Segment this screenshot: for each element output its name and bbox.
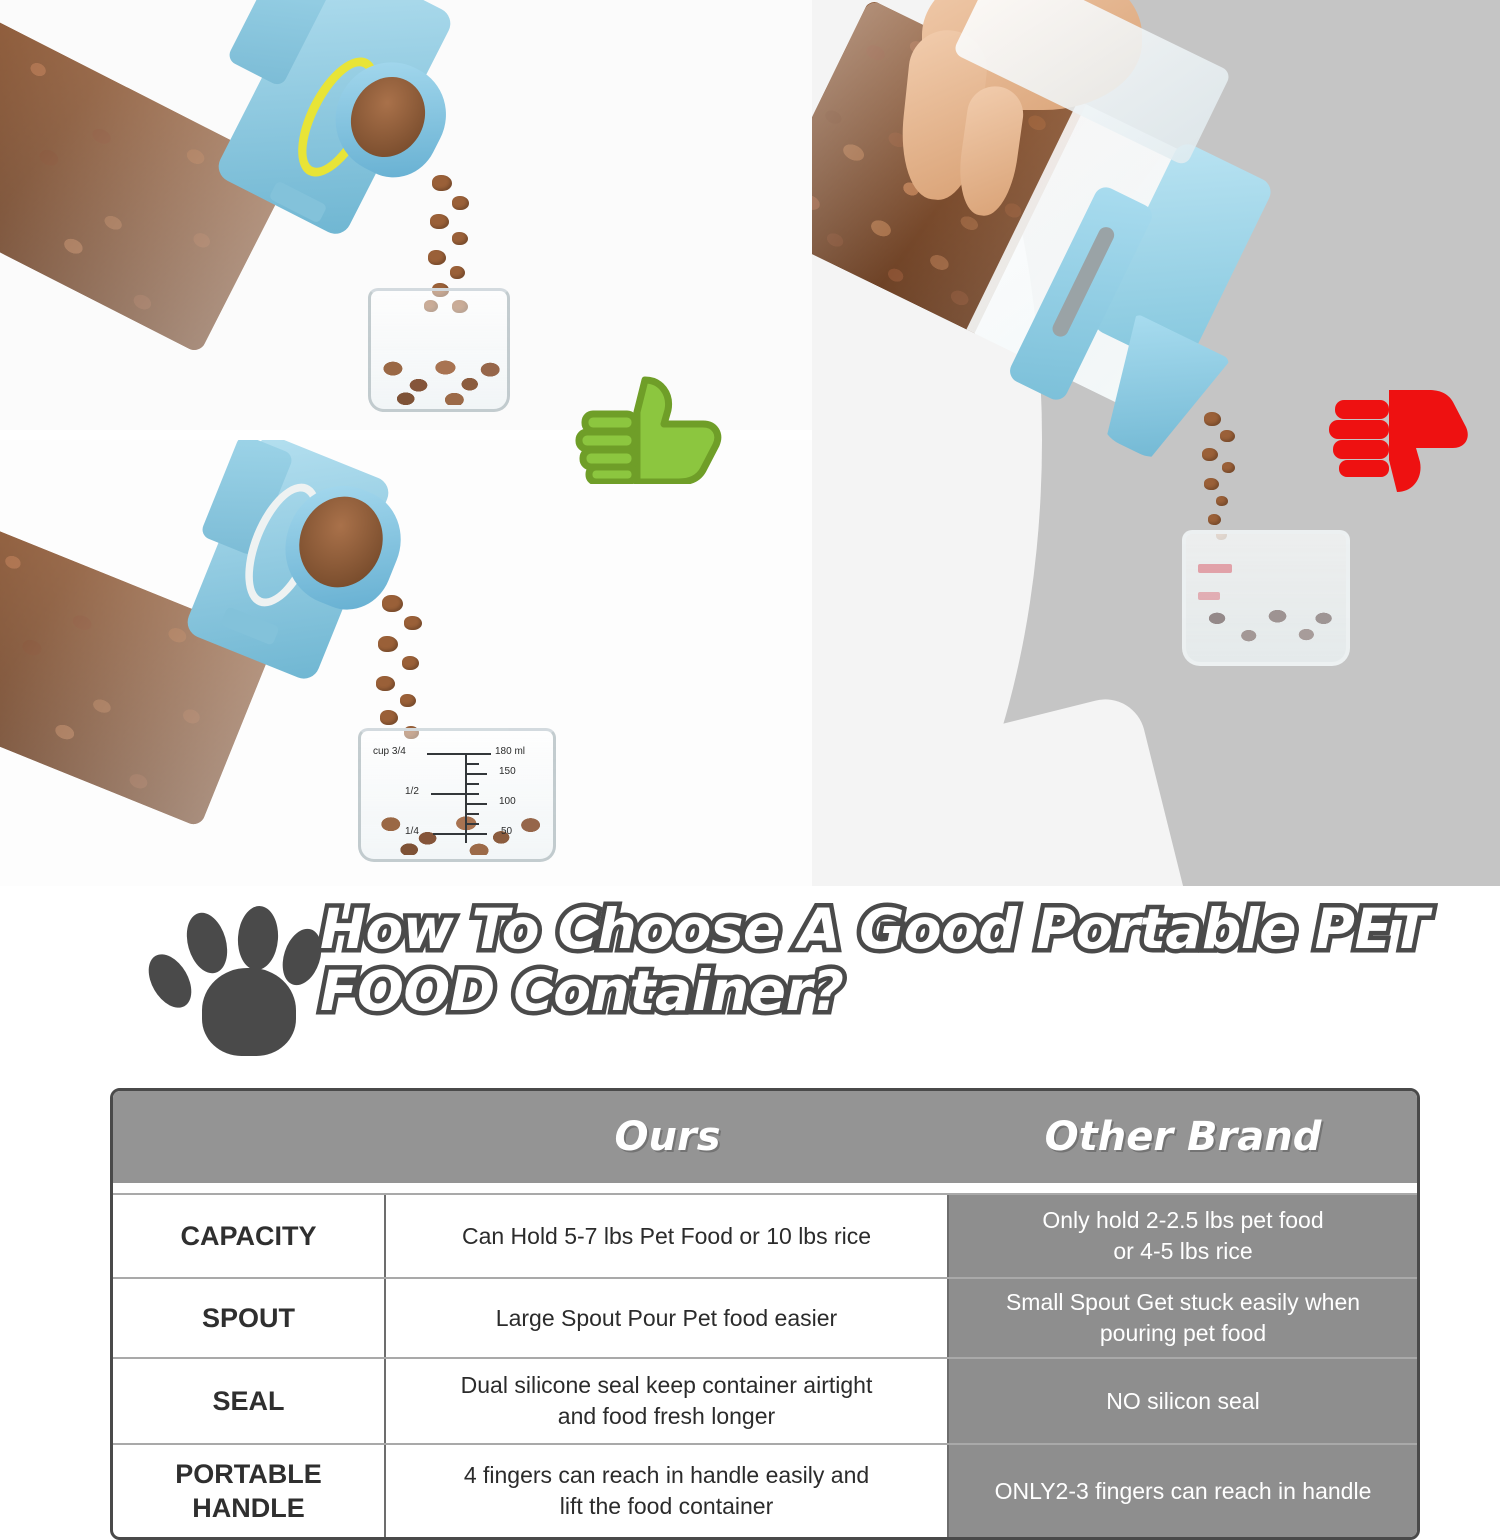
row-feature-label: PORTABLEHANDLE <box>113 1445 386 1537</box>
row-other-value: ONLY2-3 fingers can reach in handle <box>949 1445 1417 1537</box>
thumbs-up-icon <box>575 372 725 484</box>
scale-label-150: 150 <box>499 766 516 777</box>
scale-label-100: 100 <box>499 796 516 807</box>
row-feature-label: CAPACITY <box>113 1195 386 1277</box>
row-ours-value: Dual silicone seal keep container airtig… <box>386 1359 949 1443</box>
table-header-other: Other Brand <box>949 1091 1417 1183</box>
row-other-value: NO silicon seal <box>949 1359 1417 1443</box>
table-header-ours-label: Ours <box>614 1114 720 1160</box>
cup-scale-mark <box>1198 564 1232 573</box>
headline-line-2: FOOD Container? <box>320 960 1430 1022</box>
photo-collage: cup 3/4 1/2 1/4 180 ml 150 100 50 <box>0 0 1500 886</box>
scale-label-cup-three-quarter: cup 3/4 <box>373 746 406 757</box>
table-header-ours: Ours <box>386 1091 949 1183</box>
comparison-table: Ours Other Brand CAPACITY Can Hold 5-7 l… <box>110 1088 1420 1540</box>
row-feature-label: SPOUT <box>113 1279 386 1357</box>
table-row: SEAL Dual silicone seal keep container a… <box>113 1357 1417 1443</box>
paw-print-icon <box>150 906 330 1056</box>
measuring-cup <box>1182 530 1350 666</box>
measuring-cup <box>368 288 510 412</box>
table-header-feature <box>113 1091 386 1183</box>
table-row: CAPACITY Can Hold 5-7 lbs Pet Food or 10… <box>113 1193 1417 1277</box>
scale-tick-column <box>465 753 467 843</box>
scale-label-50: 50 <box>501 826 512 837</box>
table-row: SPOUT Large Spout Pour Pet food easier S… <box>113 1277 1417 1357</box>
photo-ours-into-measuring-cup: cup 3/4 1/2 1/4 180 ml 150 100 50 <box>0 440 812 886</box>
page-title: How To Choose A Good Portable PET FOOD C… <box>320 898 1430 1022</box>
measuring-cup: cup 3/4 1/2 1/4 180 ml 150 100 50 <box>358 728 556 862</box>
cup-scale-mark <box>1198 592 1220 600</box>
infographic-page: cup 3/4 1/2 1/4 180 ml 150 100 50 <box>0 0 1500 1500</box>
table-row: PORTABLEHANDLE 4 fingers can reach in ha… <box>113 1443 1417 1537</box>
row-feature-label: SEAL <box>113 1359 386 1443</box>
row-ours-value: 4 fingers can reach in handle easily and… <box>386 1445 949 1537</box>
scale-label-180ml: 180 ml <box>495 746 525 757</box>
row-ours-value: Can Hold 5-7 lbs Pet Food or 10 lbs rice <box>386 1195 949 1277</box>
header-divider <box>113 1183 1417 1193</box>
row-other-value: Only hold 2-2.5 lbs pet foodor 4-5 lbs r… <box>949 1195 1417 1277</box>
row-ours-value: Large Spout Pour Pet food easier <box>386 1279 949 1357</box>
table-header-row: Ours Other Brand <box>113 1091 1417 1183</box>
row-other-value: Small Spout Get stuck easily whenpouring… <box>949 1279 1417 1357</box>
photo-ours-pouring-large-spout <box>0 0 812 430</box>
table-header-other-label: Other Brand <box>1045 1114 1322 1160</box>
headline-line-1: How To Choose A Good Portable PET <box>320 898 1430 960</box>
headline-section: How To Choose A Good Portable PET FOOD C… <box>0 896 1500 1066</box>
thumbs-down-icon <box>1325 378 1475 500</box>
scale-label-half: 1/2 <box>405 786 419 797</box>
scale-label-quarter: 1/4 <box>405 826 419 837</box>
